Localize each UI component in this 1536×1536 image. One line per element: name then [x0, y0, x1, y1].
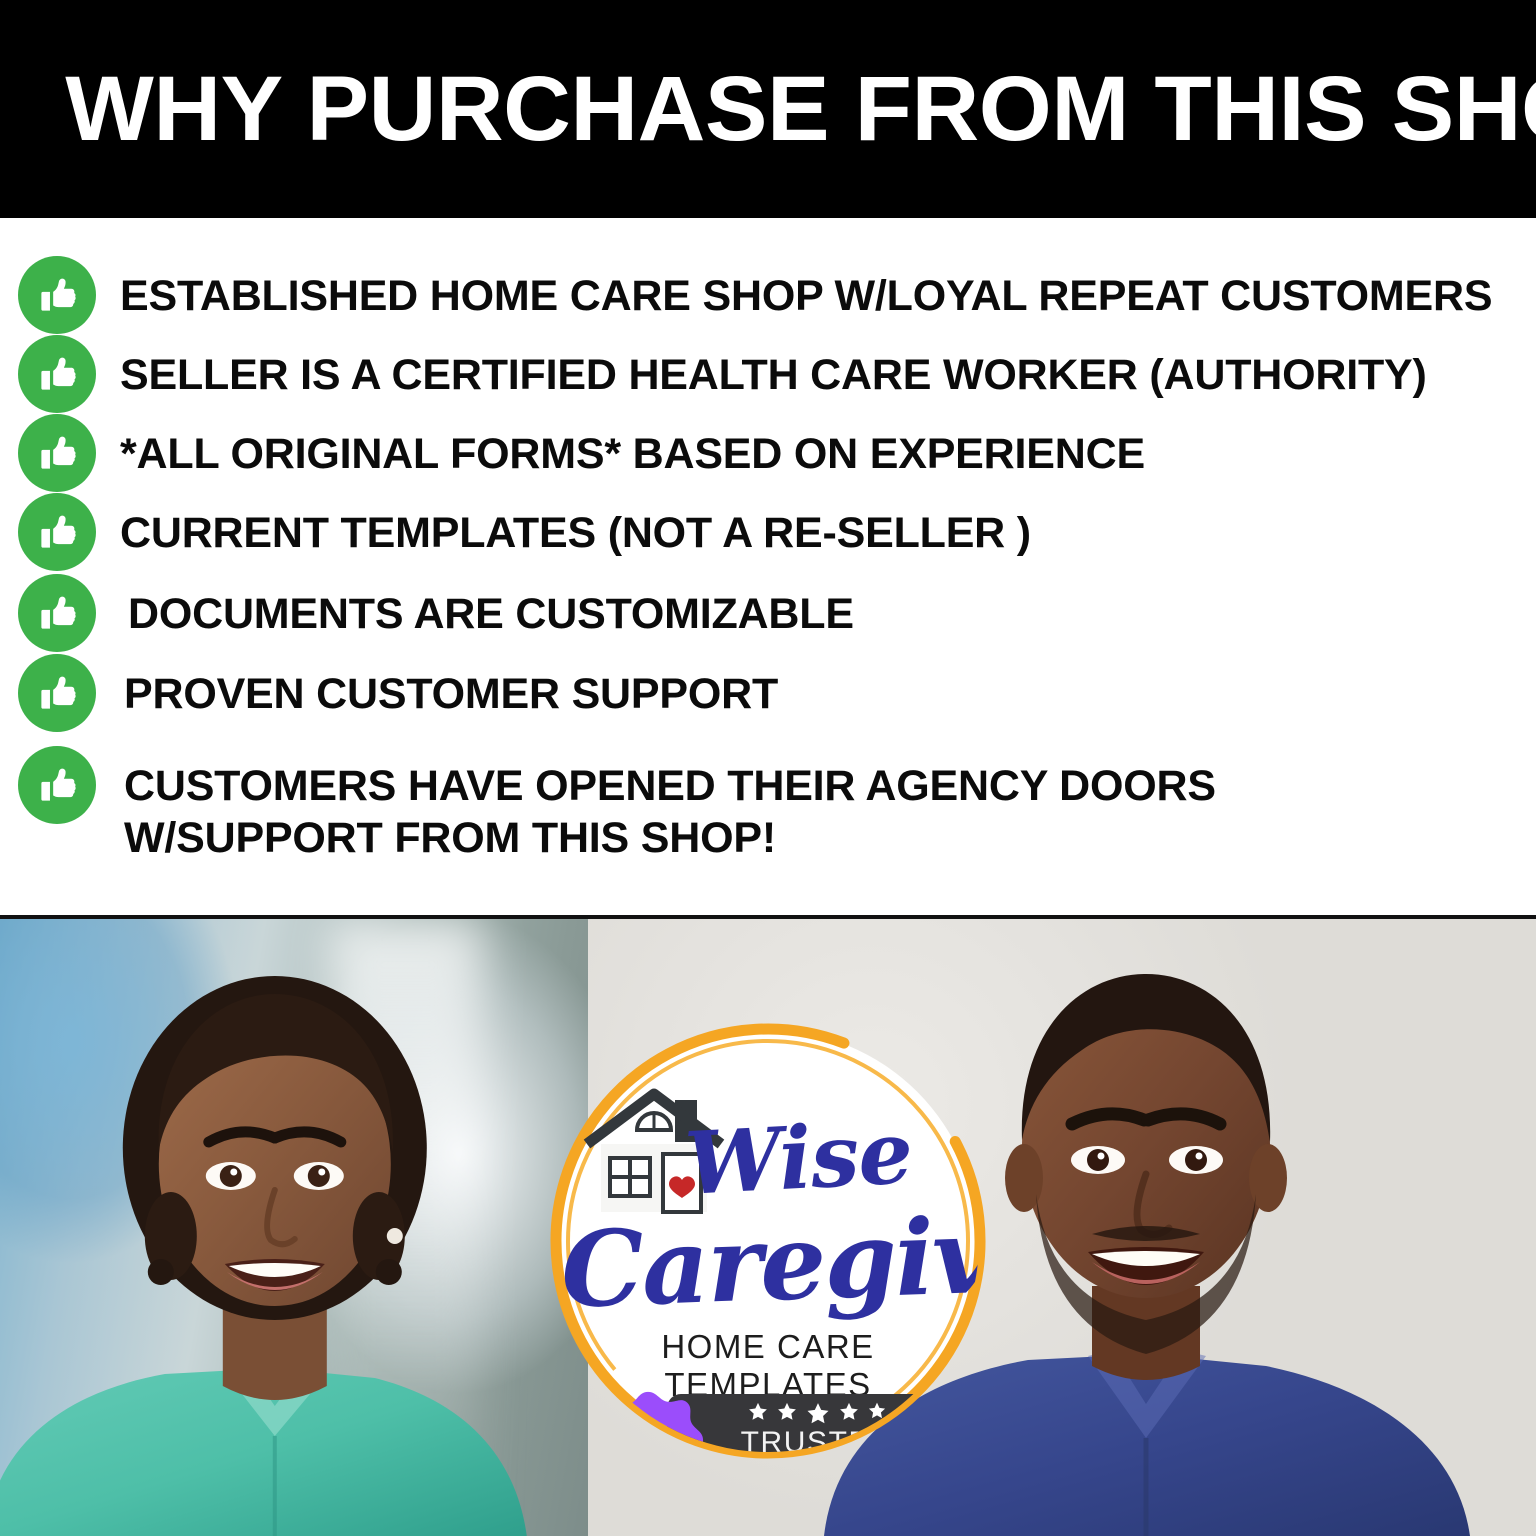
- list-item: SELLER IS A CERTIFIED HEALTH CARE WORKER…: [0, 335, 1536, 413]
- photo-left-caregiver: [0, 919, 588, 1536]
- list-item: CURRENT TEMPLATES (NOT A RE-SELLER ): [0, 493, 1536, 571]
- list-item: DOCUMENTS ARE CUSTOMIZABLE: [0, 574, 1536, 652]
- list-item: ESTABLISHED HOME CARE SHOP W/LOYAL REPEA…: [0, 256, 1536, 334]
- list-item-label: DOCUMENTS ARE CUSTOMIZABLE: [96, 574, 854, 640]
- list-item-label: CUSTOMERS HAVE OPENED THEIR AGENCY DOORS…: [96, 746, 1216, 865]
- header-banner: WHY PURCHASE FROM THIS SHOP?: [0, 0, 1536, 218]
- star-icon: [805, 1401, 831, 1427]
- star-icon: [776, 1401, 798, 1423]
- star-icon: [747, 1401, 769, 1423]
- brand-logo: Wise Caregiving HOME CARE TEMPLATES TRUS…: [543, 1016, 993, 1466]
- list-item: *ALL ORIGINAL FORMS* BASED ON EXPERIENCE: [0, 414, 1536, 492]
- photo-strip: Wise Caregiving HOME CARE TEMPLATES TRUS…: [0, 915, 1536, 1536]
- list-item-label: ESTABLISHED HOME CARE SHOP W/LOYAL REPEA…: [96, 256, 1492, 322]
- list-item: CUSTOMERS HAVE OPENED THEIR AGENCY DOORS…: [0, 746, 1536, 865]
- trusted-label: TRUSTED: [741, 1428, 894, 1452]
- thumbs-up-icon: [18, 414, 96, 492]
- brand-name-line2: Caregiving: [559, 1187, 979, 1331]
- thumbs-up-icon: [18, 746, 96, 824]
- photo-left-subject: [0, 936, 535, 1536]
- list-item: PROVEN CUSTOMER SUPPORT: [0, 654, 1536, 732]
- logo-content: Wise Caregiving HOME CARE TEMPLATES TRUS…: [557, 1030, 979, 1452]
- list-item-label: CURRENT TEMPLATES (NOT A RE-SELLER ): [96, 493, 1031, 559]
- thumbs-up-icon: [18, 493, 96, 571]
- star-icon: [867, 1401, 887, 1421]
- thumbs-up-icon: [18, 574, 96, 652]
- list-item-label: PROVEN CUSTOMER SUPPORT: [96, 654, 778, 720]
- list-item-label: SELLER IS A CERTIFIED HEALTH CARE WORKER…: [96, 335, 1427, 401]
- benefits-list: ESTABLISHED HOME CARE SHOP W/LOYAL REPEA…: [0, 224, 1536, 914]
- thumbs-up-icon: [589, 1388, 707, 1452]
- page-title: WHY PURCHASE FROM THIS SHOP?: [0, 63, 1536, 155]
- trusted-badge: TRUSTED: [589, 1388, 979, 1452]
- star-icon: [838, 1401, 860, 1423]
- list-item-label: *ALL ORIGINAL FORMS* BASED ON EXPERIENCE: [96, 414, 1145, 480]
- thumbs-up-icon: [18, 335, 96, 413]
- trusted-plate: TRUSTED: [667, 1394, 967, 1452]
- star-rating: [747, 1401, 887, 1427]
- thumbs-up-icon: [18, 256, 96, 334]
- thumbs-up-icon: [18, 654, 96, 732]
